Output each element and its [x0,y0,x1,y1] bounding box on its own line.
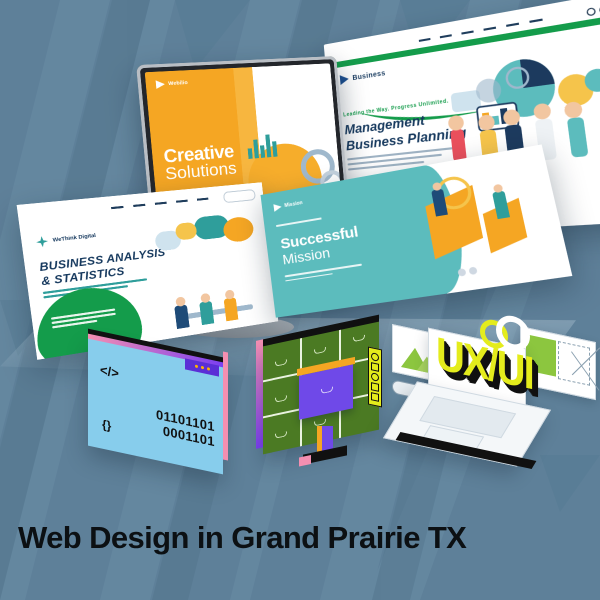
play-triangle-icon [273,203,282,212]
toolbar-palette-icon [368,347,382,408]
icon-code-window: </> {} 01101101 0001101 [88,352,223,460]
icon-laptop-uxui: UX/UI [388,320,598,470]
search-icon [223,189,256,203]
icon-file-cabinet [255,334,385,460]
code-window-right-edge [223,351,228,460]
curly-brace-icon: {} [102,417,111,433]
ba-nav-links [111,198,208,210]
creative-logo: Webilio [156,79,188,89]
play-triangle-icon [340,74,349,85]
sparkle-icon [35,236,48,248]
play-triangle-icon [156,80,166,89]
mgmt-nav-icons [586,5,600,17]
page-title: Web Design in Grand Prairie TX [18,520,466,556]
ba-illustration [146,209,274,336]
ba-logo-text: WeThink Digital [52,233,96,244]
promo-graphic: Business Leading the Way. Progress Unlim… [0,0,600,600]
creative-logo-text: Webilio [168,80,188,87]
ba-logo: WeThink Digital [35,230,96,247]
mission-illustration [396,154,562,288]
